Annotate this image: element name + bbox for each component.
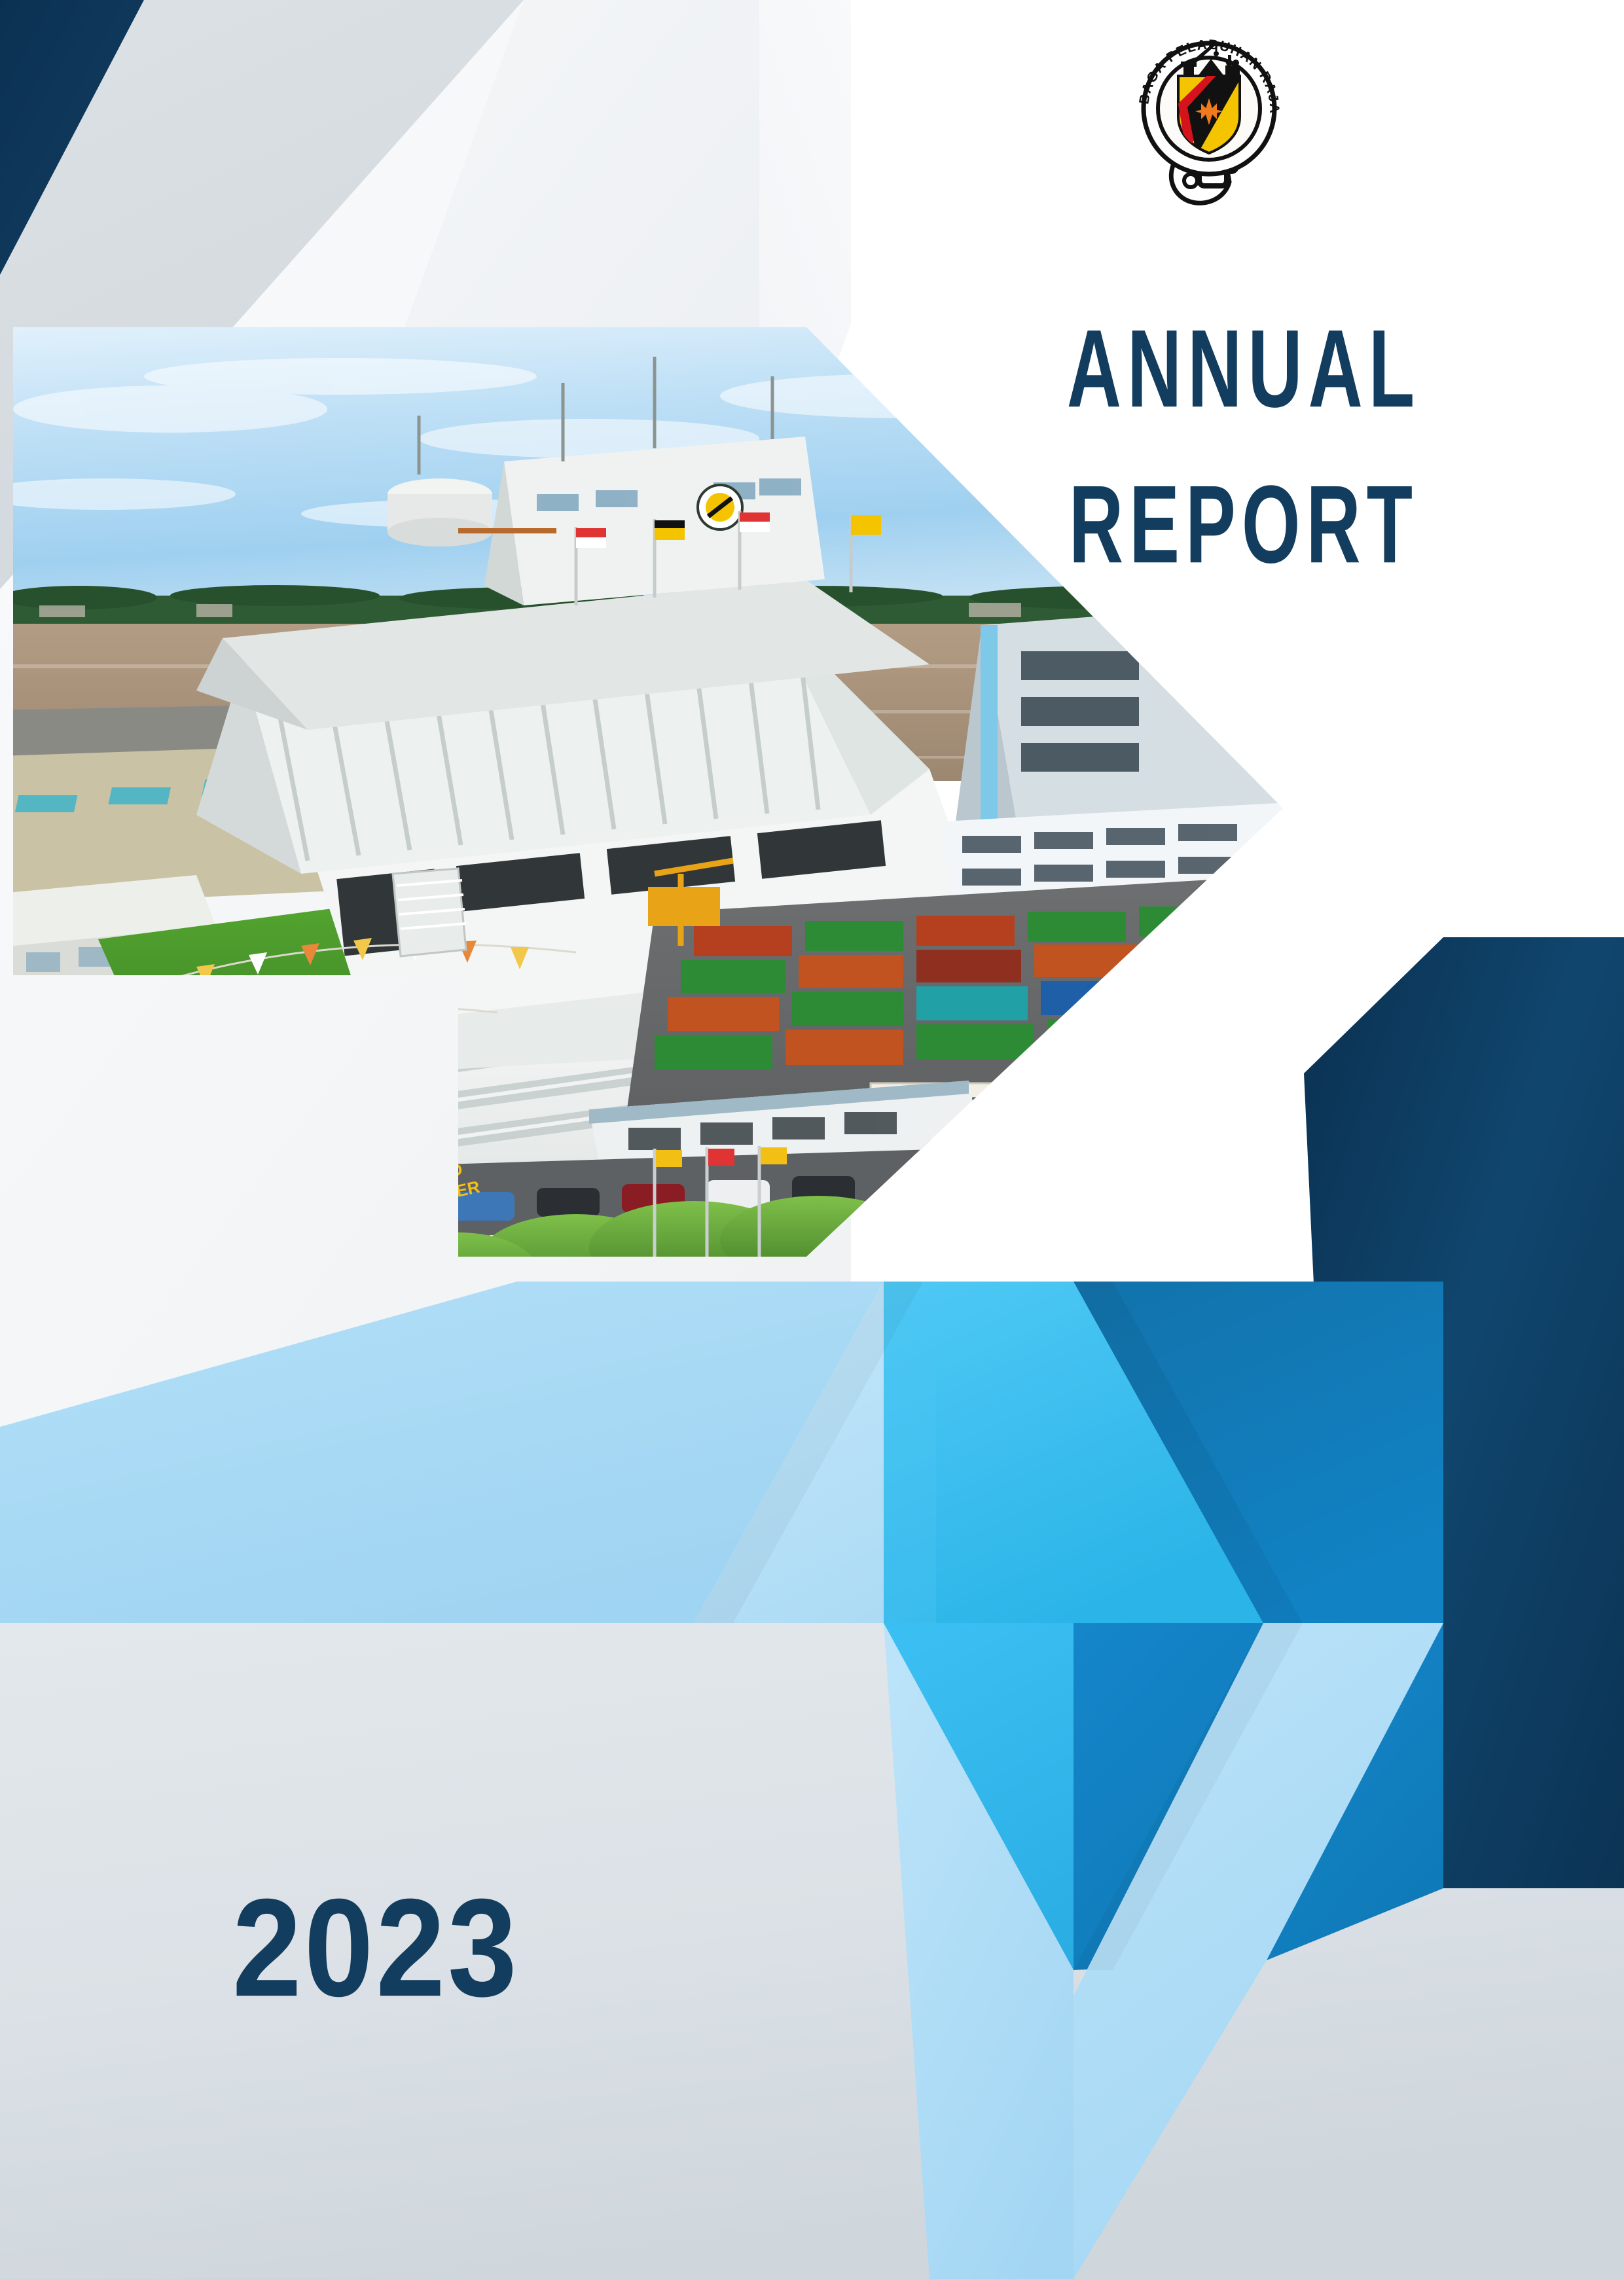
lembaga-pelabuhan-rajang-logo: LEMBAGA PELABUHAN RAJANG [1127,25,1291,215]
logo-svg: LEMBAGA PELABUHAN RAJANG [1127,25,1291,215]
cover-title-block: ANNUAL REPORT [982,314,1506,554]
annual-report-cover-page: LEMBAGA PELABUHAN RAJANG [0,0,1624,2279]
title-annual: ANNUAL [1008,314,1479,425]
cover-year: 2023 [232,1878,520,2018]
title-report: REPORT [1008,470,1479,581]
